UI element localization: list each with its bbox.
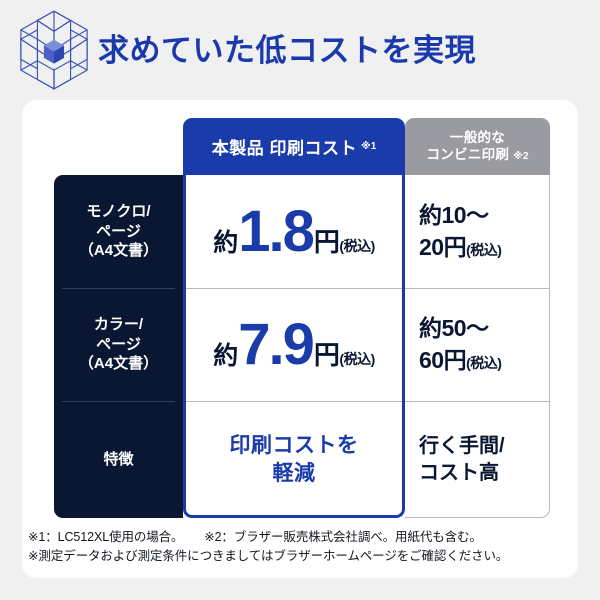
table-row-label-monochrome: モノクロ/ ページ （A4文書） <box>54 175 183 288</box>
price-mono-number: 1.8 <box>238 203 313 261</box>
footnote-line-2: ※測定データおよび測定条件につきましてはブラザーホームページをご確認ください。 <box>28 547 588 566</box>
konbini-mono-line2: 20円 (税込) <box>419 232 501 263</box>
konbini-color-line1: 約50〜 <box>419 313 501 344</box>
konbini-feature: 行く手間/ コスト高 <box>419 433 505 487</box>
feature-line1: 印刷コストを <box>230 432 359 459</box>
price-mono: 約 1.8 円 (税込) <box>213 203 375 261</box>
row-label-column: モノクロ/ ページ （A4文書） カラー/ ページ （A4文書） <box>54 175 183 518</box>
row-label-mono-line3: （A4文書） <box>79 241 158 261</box>
product-cost-column: 約 1.8 円 (税込) 約 7.9 円 (税込) <box>183 175 405 518</box>
table-cell-konbini-color: 約50〜 60円 (税込) <box>405 288 549 401</box>
column-header-product-label: 本製品 印刷コスト <box>212 134 357 159</box>
price-color-tax: (税込) <box>339 349 374 369</box>
konbini-color-tax: (税込) <box>466 354 501 373</box>
feature-line2: 軽減 <box>230 460 359 487</box>
footnote-1: ※1：LC512XL使用の場合。 <box>28 530 183 544</box>
price-mono-approx: 約 <box>213 223 237 259</box>
table-body: モノクロ/ ページ （A4文書） カラー/ ページ （A4文書） <box>54 175 550 518</box>
konbini-cost-column: 約10〜 20円 (税込) 約50〜 60円 <box>405 175 550 518</box>
table-header-row: 本製品 印刷コスト ※1 一般的な コンビニ印刷 ※2 <box>54 118 550 175</box>
table-cell-konbini-feature: 行く手間/ コスト高 <box>405 401 549 518</box>
table-row-label-color: カラー/ ページ （A4文書） <box>54 288 183 401</box>
page-title: 求めていた低コストを実現 <box>98 35 476 66</box>
column-header-konbini-line2: コンビニ印刷 <box>426 147 509 163</box>
table-row-label-feature: 特徴 <box>54 401 183 518</box>
table-cell-product-color: 約 7.9 円 (税込) <box>186 288 402 401</box>
konbini-mono-line1: 約10〜 <box>419 200 501 231</box>
isometric-cube-hexagon-logo <box>18 9 90 91</box>
footnote-2: ※2：ブラザー販売株式会社調べ。用紙代も含む。 <box>204 530 482 544</box>
column-header-konbini-footnote-marker: ※2 <box>513 151 528 163</box>
price-mono-tax: (税込) <box>339 236 374 256</box>
row-label-mono-line1: モノクロ/ <box>79 202 158 222</box>
price-color-yen: 円 <box>314 335 340 372</box>
table-cell-product-feature: 印刷コストを 軽減 <box>186 401 402 518</box>
row-label-color-line1: カラー/ <box>79 315 158 335</box>
konbini-mono-tax: (税込) <box>466 241 501 260</box>
konbini-feature-line2: コスト高 <box>419 460 505 487</box>
konbini-feature-amount: コスト高 <box>419 460 499 487</box>
footnote-3: ※測定データおよび測定条件につきましてはブラザーホームページをご確認ください。 <box>28 549 508 563</box>
konbini-color-amount: 60円 <box>419 345 466 376</box>
column-header-konbini-line2-wrap: コンビニ印刷 ※2 <box>426 147 528 163</box>
konbini-price-color: 約50〜 60円 (税込) <box>419 313 501 375</box>
konbini-color-line2: 60円 (税込) <box>419 345 501 376</box>
footnote-line-1: ※1：LC512XL使用の場合。 ※2：ブラザー販売株式会社調べ。用紙代も含む。 <box>28 528 588 547</box>
price-color: 約 7.9 円 (税込) <box>213 316 375 374</box>
row-label-color-line2: ページ <box>79 335 158 355</box>
konbini-feature-line1: 行く手間/ <box>419 433 505 460</box>
poster-header: 求めていた低コストを実現 <box>0 0 600 100</box>
price-mono-yen: 円 <box>314 222 340 259</box>
row-label-feature-line1: 特徴 <box>103 450 133 470</box>
feature-text: 印刷コストを 軽減 <box>230 432 359 487</box>
table-cell-konbini-monochrome: 約10〜 20円 (税込) <box>405 175 549 288</box>
price-color-approx: 約 <box>213 336 237 372</box>
column-header-konbini: 一般的な コンビニ印刷 ※2 <box>405 118 550 175</box>
footnotes: ※1：LC512XL使用の場合。 ※2：ブラザー販売株式会社調べ。用紙代も含む。… <box>28 528 588 567</box>
content-card: 本製品 印刷コスト ※1 一般的な コンビニ印刷 ※2 <box>22 100 578 578</box>
table-cell-product-monochrome: 約 1.8 円 (税込) <box>186 175 402 288</box>
price-color-number: 7.9 <box>238 316 313 374</box>
column-header-product-footnote-marker: ※1 <box>361 141 376 152</box>
konbini-price-mono: 約10〜 20円 (税込) <box>419 200 501 262</box>
row-label-mono-line2: ページ <box>79 222 158 242</box>
filled-center-cube <box>44 40 64 64</box>
cost-comparison-table: 本製品 印刷コスト ※1 一般的な コンビニ印刷 ※2 <box>54 118 550 518</box>
column-header-konbini-line1: 一般的な <box>450 130 505 146</box>
column-header-product: 本製品 印刷コスト ※1 <box>183 118 405 175</box>
cost-comparison-poster: 求めていた低コストを実現 本製品 印刷コスト ※1 一般的な コンビニ印刷 ※2 <box>0 0 600 600</box>
row-label-color-line3: （A4文書） <box>79 354 158 374</box>
konbini-mono-amount: 20円 <box>419 232 466 263</box>
